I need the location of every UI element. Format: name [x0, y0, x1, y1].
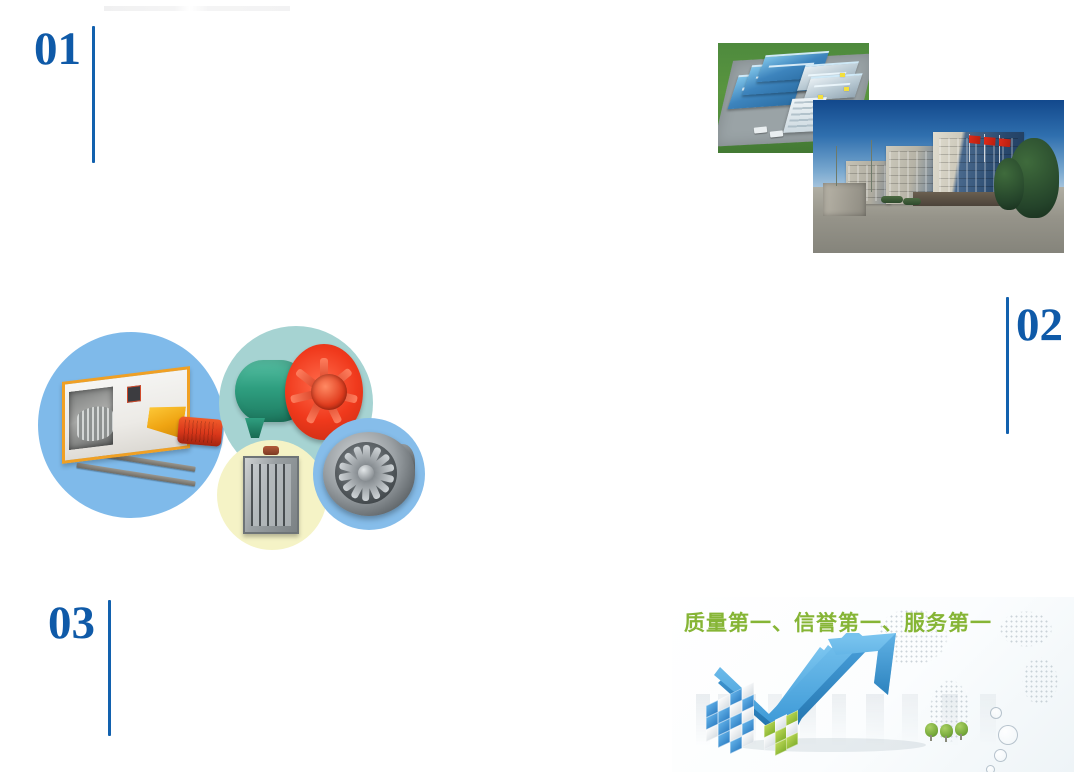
damper-body — [243, 456, 299, 534]
service-commitment-banner: 质量第一、信誉第一、服务第一 — [672, 597, 1074, 772]
section-number-01: 01 — [34, 26, 81, 73]
damper-actuator — [263, 446, 279, 455]
section-number-02: 02 — [1016, 302, 1063, 349]
national-flag — [969, 135, 981, 144]
section-rule-02 — [1006, 297, 1009, 434]
electric-motor — [177, 416, 223, 447]
bubble-circle — [998, 725, 1018, 745]
product-circle-air-damper-unit — [217, 440, 327, 550]
product-circle-housed-centrifugal-fan — [38, 332, 224, 518]
duct-fan-shell — [323, 432, 415, 516]
slide-canvas: 01 02 03 — [0, 0, 1074, 772]
fan-impeller — [77, 405, 113, 443]
duct-fan-wheel — [335, 442, 397, 504]
national-flag — [984, 137, 996, 146]
background-tree — [994, 158, 1024, 210]
shrub — [881, 196, 904, 203]
aerial-marker — [844, 87, 849, 91]
control-panel — [127, 385, 141, 403]
aerial-marker — [840, 73, 845, 77]
office-building-photo-image — [813, 100, 1064, 253]
fan-hub — [358, 465, 374, 481]
axial-fan-foot — [245, 418, 265, 438]
section-number-03: 03 — [48, 600, 95, 647]
banner-tree — [925, 723, 938, 737]
section-rule-03 — [108, 600, 111, 736]
scan-artifact — [104, 6, 290, 11]
national-flag — [999, 138, 1011, 147]
section-rule-01 — [92, 26, 95, 163]
product-circle-mixed-flow-duct-fan — [313, 418, 425, 530]
utility-pole — [836, 146, 837, 186]
gatehouse — [823, 183, 866, 217]
bubble-circle — [994, 749, 1007, 762]
shrub — [903, 198, 921, 205]
bubble-circle — [990, 707, 1002, 719]
utility-pole — [871, 140, 872, 192]
bubble-circle — [986, 765, 995, 772]
fan-hub — [311, 374, 347, 410]
aerial-marker — [818, 95, 823, 99]
product-collage-group — [30, 318, 430, 558]
banner-tree — [940, 724, 953, 738]
factory-shed — [803, 73, 862, 100]
banner-tree — [955, 722, 968, 736]
facility-photo-group — [700, 30, 1074, 270]
fan-inlet — [69, 387, 113, 450]
